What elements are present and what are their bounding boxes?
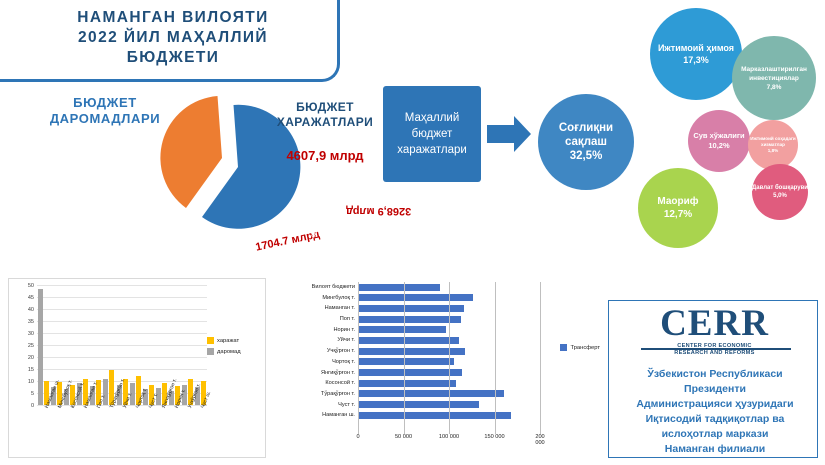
bubble-education-value: 12,7% xyxy=(664,208,692,221)
chart2-gridline xyxy=(540,282,541,434)
chart1-x-label: Косонсой т. xyxy=(63,407,76,455)
chart1-x-axis-labels: Наманган ш.Мингбулоқ т.Косонсой т.Наманг… xyxy=(37,407,207,455)
chart1-bar xyxy=(38,289,43,405)
chart2-row-label: Чуст т. xyxy=(338,400,355,411)
chart1-x-label: Наманган т. xyxy=(76,407,89,455)
chart2-bar xyxy=(358,337,459,344)
expense-label-line-2: ХАРАЖАТЛАРИ xyxy=(265,115,385,130)
bubble-government: Давлат бошқаруви 5,0% xyxy=(752,164,808,220)
chart1-x-label: Янгиқўрғон т. xyxy=(155,407,168,455)
chart1-legend-label-expense: харажат xyxy=(217,338,239,344)
title-panel: НАМАНГАН ВИЛОЯТИ 2022 ЙИЛ МАҲАЛЛИЙ БЮДЖЕ… xyxy=(0,0,340,82)
title-line-2: 2022 ЙИЛ МАҲАЛЛИЙ xyxy=(18,28,328,48)
chart1-bar-group xyxy=(181,285,194,405)
cerr-wordmark: CERR xyxy=(617,305,812,343)
chart1-bar-group xyxy=(155,285,168,405)
chart2-gridline xyxy=(495,282,496,434)
chart1-y-tick: 20 xyxy=(28,355,34,361)
chart1-bar-group xyxy=(37,285,50,405)
chart2-bar xyxy=(358,369,462,376)
cerr-subtitle-line-2: RESEARCH AND REFORMS xyxy=(617,350,812,357)
bubble-social-services-value: 1,8% xyxy=(768,148,778,154)
chart2-bar xyxy=(358,284,440,291)
cerr-logo-panel: CERR CENTER FOR ECONOMIC RESEARCH AND RE… xyxy=(608,300,818,458)
chart2-bar xyxy=(358,326,446,333)
chart2-x-tick: 150 000 xyxy=(484,434,504,440)
chart1-bar-group xyxy=(102,285,115,405)
chart1-x-label: Тўрақўрғон т. xyxy=(102,407,115,455)
legend-swatch-income xyxy=(207,348,214,355)
expense-label: БЮДЖЕТ ХАРАЖАТЛАРИ xyxy=(265,100,385,130)
chart1-x-label: Наманган ш. xyxy=(37,407,50,455)
chart1-y-tick: 30 xyxy=(28,331,34,337)
chart2-x-tick: 100 000 xyxy=(439,434,459,440)
chart1-y-tick: 10 xyxy=(28,379,34,385)
legend-swatch-expense xyxy=(207,337,214,344)
chart2-bar xyxy=(358,294,473,301)
bubble-investments: Марказлаштирилган инвестициялар 7,8% xyxy=(732,36,816,120)
cerr-text-line-3: Иқтисодий тадқиқотлар ва xyxy=(615,412,815,427)
bubble-investments-value: 7,8% xyxy=(767,83,782,92)
legend-swatch-transfer xyxy=(560,344,567,351)
flow-arrow-icon xyxy=(487,114,531,154)
bubble-government-name: Давлат бошқаруви xyxy=(752,184,808,192)
title-line-3: БЮДЖЕТИ xyxy=(18,48,328,68)
chart1-y-tick: 50 xyxy=(28,283,34,289)
bubble-education-name: Маориф xyxy=(657,195,698,208)
chart1-x-label: Учқўрғон т. xyxy=(181,407,194,455)
flow-source-box: Маҳаллий бюджет харажатлари xyxy=(383,86,481,182)
cerr-text-line-1: Ўзбекистон Республикаси Президенти xyxy=(615,367,815,397)
chart2-bar xyxy=(358,358,454,365)
chart2-row-label: Наманган ш. xyxy=(322,410,355,421)
chart1-x-label: Чуст ш. xyxy=(194,407,207,455)
chart2-legend-label: Трансферт xyxy=(570,345,600,351)
bubble-social: Ижтимоий ҳимоя 17,3% xyxy=(650,8,742,100)
pie-slice-republic xyxy=(160,96,222,208)
chart1-x-label: Чортоқ т. xyxy=(129,407,142,455)
chart2-row-label: Вилоят бюджети xyxy=(312,282,355,293)
chart-transfers: Вилоят бюджетиМингбулоқ т.Наманган т.Поп… xyxy=(272,278,602,458)
cerr-text-line-4: ислоҳотлар маркази xyxy=(615,427,815,442)
chart1-y-tick: 0 xyxy=(31,403,34,409)
chart2-bar xyxy=(358,401,479,408)
chart2-row-label: Поп т. xyxy=(340,314,355,325)
expense-total-value: 4607,9 млрд xyxy=(265,148,385,163)
chart2-bar xyxy=(358,305,464,312)
expense-label-line-1: БЮДЖЕТ xyxy=(265,100,385,115)
chart1-x-label: Норин т. xyxy=(168,407,181,455)
chart2-gridline xyxy=(404,282,405,434)
chart2-x-tick: 200 000 xyxy=(535,434,544,446)
chart2-row-label: Учқўрғон т. xyxy=(327,346,355,357)
chart1-y-tick: 40 xyxy=(28,307,34,313)
chart2-x-tick: 0 xyxy=(356,434,359,440)
chart1-legend: харажат даромад xyxy=(207,337,261,359)
chart1-y-tick: 5 xyxy=(31,391,34,397)
bubble-social-services-name: Ижтимоий соҳадаги хизматлар xyxy=(748,136,798,148)
bubble-social-value: 17,3% xyxy=(683,54,709,66)
chart2-row-label: Янгиқўрғон т. xyxy=(321,368,355,379)
chart2-row-label: Мингбулоқ т. xyxy=(322,293,355,304)
bubble-government-value: 5,0% xyxy=(773,192,787,200)
chart1-bar-group xyxy=(129,285,142,405)
chart2-row-label: Норин т. xyxy=(333,325,355,336)
cerr-divider xyxy=(641,348,791,350)
chart2-row-label: Наманган т. xyxy=(325,303,355,314)
chart1-x-label: Уйчи т. xyxy=(115,407,128,455)
bubble-water: Сув хўжалиги 10,2% xyxy=(688,110,750,172)
chart1-y-tick: 45 xyxy=(28,295,34,301)
cerr-text-line-5: Наманган филиали xyxy=(615,442,815,457)
slide-root: НАМАНГАН ВИЛОЯТИ 2022 ЙИЛ МАҲАЛЛИЙ БЮДЖЕ… xyxy=(0,0,825,465)
chart1-y-tick: 25 xyxy=(28,343,34,349)
chart2-bar xyxy=(358,380,456,387)
chart1-y-tick: 35 xyxy=(28,319,34,325)
chart1-legend-label-income: даромад xyxy=(217,349,241,355)
bubble-education: Маориф 12,7% xyxy=(638,168,718,248)
chart-income-expense: 05101520253035404550 Наманган ш.Мингбуло… xyxy=(8,278,266,458)
chart2-row-label: Чортоқ т. xyxy=(332,357,355,368)
bubble-water-value: 10,2% xyxy=(708,141,729,151)
chart2-bar xyxy=(358,390,504,397)
cerr-description: Ўзбекистон Республикаси Президенти Админ… xyxy=(615,367,815,457)
cerr-text-line-2: Администрацияси ҳузуридаги xyxy=(615,397,815,412)
chart1-legend-item-income: даромад xyxy=(207,348,261,355)
chart1-y-tick: 15 xyxy=(28,367,34,373)
page-title: НАМАНГАН ВИЛОЯТИ 2022 ЙИЛ МАҲАЛЛИЙ БЮДЖЕ… xyxy=(18,8,328,68)
bubble-social-services: Ижтимоий соҳадаги хизматлар 1,8% xyxy=(748,120,798,170)
chart2-x-axis: 050 000100 000150 000200 000 xyxy=(358,434,540,448)
chart2-x-tick: 50 000 xyxy=(395,434,412,440)
chart2-row-label: Тўрақўрғон т. xyxy=(321,389,355,400)
chart1-x-label: Поп т. xyxy=(89,407,102,455)
chart2-legend: Трансферт xyxy=(560,344,600,351)
chart2-row-label: Уйчи т. xyxy=(337,335,355,346)
bubble-health: Соғлиқни сақлаш 32,5% xyxy=(538,94,634,190)
chart2-gridline xyxy=(449,282,450,434)
bubble-health-value: 32,5% xyxy=(570,149,603,163)
title-line-1: НАМАНГАН ВИЛОЯТИ xyxy=(18,8,328,28)
chart2-gridline xyxy=(358,282,359,434)
bubble-health-name: Соғлиқни сақлаш xyxy=(538,121,634,149)
chart1-x-label: Чуст т. xyxy=(142,407,155,455)
chart2-row-label: Косонсой т. xyxy=(325,378,355,389)
bubble-social-name: Ижтимоий ҳимоя xyxy=(658,42,734,54)
bubble-water-name: Сув хўжалиги xyxy=(693,131,744,141)
bubble-investments-name: Марказлаштирилган инвестициялар xyxy=(732,65,816,83)
chart2-bar xyxy=(358,412,511,419)
chart1-legend-item-expense: харажат xyxy=(207,337,261,344)
chart1-x-label: Мингбулоқ т. xyxy=(50,407,63,455)
chart2-bar xyxy=(358,316,461,323)
